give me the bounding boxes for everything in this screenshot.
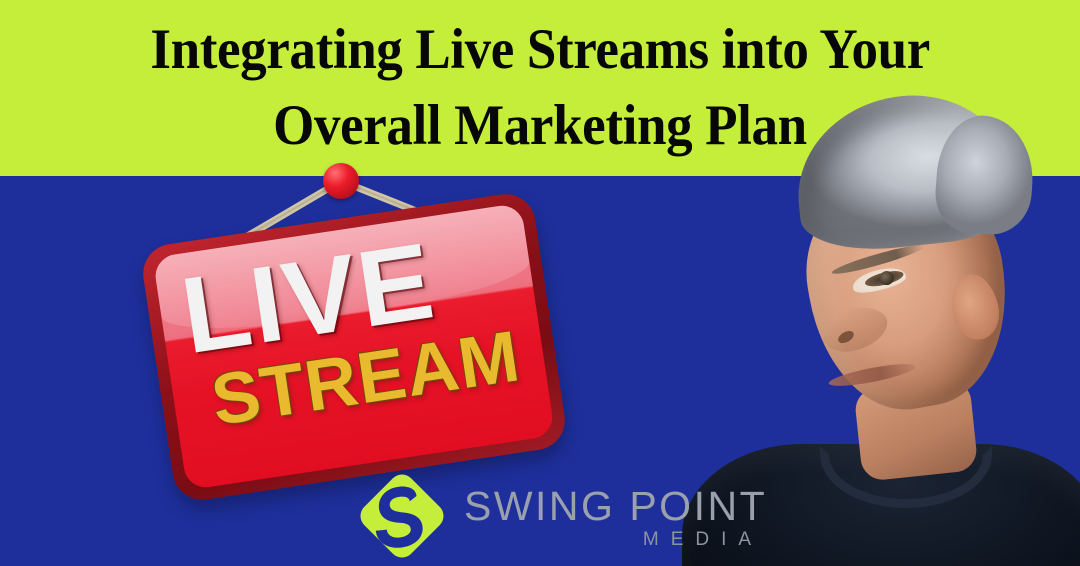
brand-logo[interactable]: SWING POINT MEDIA xyxy=(356,470,767,562)
logo-subtitle: MEDIA xyxy=(643,528,767,552)
swing-point-s-mark-icon xyxy=(356,470,448,562)
logo-wordmark: SWING POINT MEDIA xyxy=(464,480,767,552)
slide-canvas: LIVE STREAM Integrating Live Streams int… xyxy=(0,0,1080,566)
person-hair xyxy=(789,85,1025,257)
logo-name: SWING POINT xyxy=(464,484,767,528)
